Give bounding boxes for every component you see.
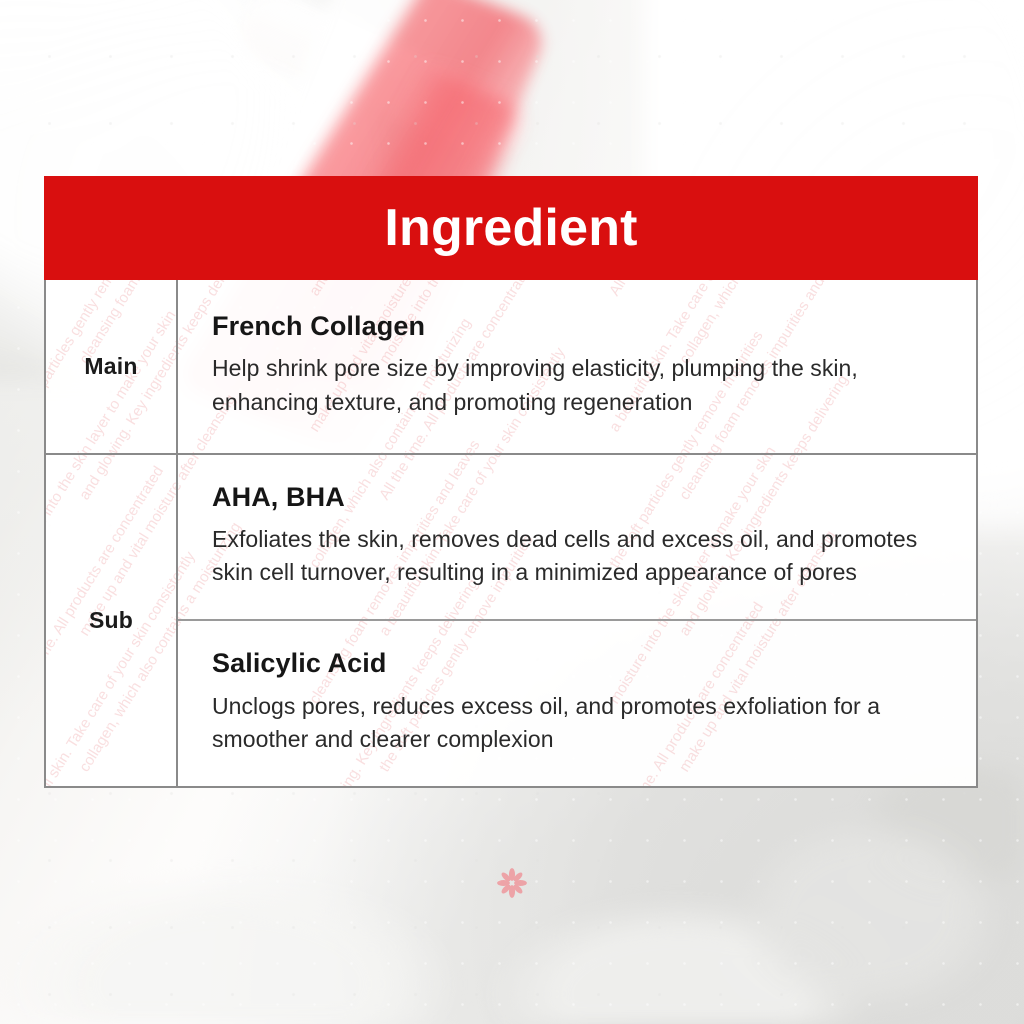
flower-icon: [495, 866, 529, 900]
ingredient-name: French Collagen: [212, 310, 942, 342]
ingredient-table: Ingredient a beautiful skin. Take care o…: [44, 176, 978, 788]
table-row: Main French Collagen Help shrink pore si…: [46, 280, 976, 453]
table-header-banner: Ingredient: [44, 176, 978, 280]
group-label-main: Main: [84, 353, 137, 380]
group-label-cell-sub: Sub: [46, 455, 178, 786]
table-body: a beautiful skin. Take care of your skin…: [44, 280, 978, 788]
ingredient-description: Help shrink pore size by improving elast…: [212, 352, 942, 418]
group-items-sub: AHA, BHA Exfoliates the skin, removes de…: [178, 455, 976, 786]
list-item: AHA, BHA Exfoliates the skin, removes de…: [178, 455, 976, 620]
group-label-cell-main: Main: [46, 280, 178, 453]
table-row: Sub AHA, BHA Exfoliates the skin, remove…: [46, 453, 976, 786]
page-title: Ingredient: [384, 202, 637, 254]
group-label-sub: Sub: [89, 607, 133, 634]
ingredient-description: Unclogs pores, reduces excess oil, and p…: [212, 690, 942, 756]
ingredient-description: Exfoliates the skin, removes dead cells …: [212, 523, 942, 589]
group-items-main: French Collagen Help shrink pore size by…: [178, 280, 976, 453]
table-rows: Main French Collagen Help shrink pore si…: [46, 280, 976, 786]
list-item: French Collagen Help shrink pore size by…: [178, 280, 976, 453]
ingredient-name: AHA, BHA: [212, 481, 942, 513]
ingredient-name: Salicylic Acid: [212, 647, 942, 679]
list-item: Salicylic Acid Unclogs pores, reduces ex…: [178, 619, 976, 786]
